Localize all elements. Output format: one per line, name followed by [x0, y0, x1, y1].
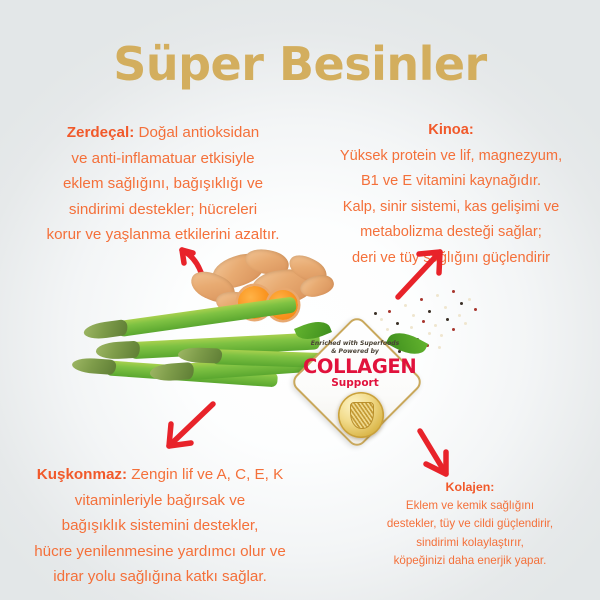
collagen-line-2: destekler, tüy ve cildi güçlendirir,: [360, 515, 580, 534]
text-block-collagen: Kolajen: Eklem ve kemik sağlığını destek…: [360, 478, 580, 571]
text-block-turmeric: Zerdeçal: Doğal antioksidan ve anti-infl…: [18, 120, 308, 248]
turmeric-line-4: sindirimi destekler; hücreleri: [18, 197, 308, 223]
shield-emblem-icon: [350, 402, 374, 429]
badge-tagline-line-2: & Powered by: [331, 348, 379, 355]
page-title: Süper Besinler: [0, 38, 600, 90]
badge-tagline-line-1: Enriched with Superfoods: [311, 340, 400, 347]
quinoa-line-3: Kalp, sinir sistemi, kas gelişimi ve: [312, 195, 590, 221]
turmeric-heading: Zerdeçal:: [67, 124, 135, 141]
badge-tagline: Enriched with Superfoods & Powered by: [303, 340, 407, 355]
asparagus-line-5: idrar yolu sağlığına katkı sağlar.: [12, 564, 308, 590]
badge-sub-label: Support: [303, 377, 407, 389]
turmeric-first-line: Zerdeçal: Doğal antioksidan: [18, 120, 308, 146]
asparagus-line-2: vitaminleriyle bağırsak ve: [12, 488, 308, 514]
badge-main-label: COLLAGEN: [303, 356, 407, 377]
text-block-asparagus: Kuşkonmaz: Zengin lif ve A, C, E, K vita…: [12, 462, 308, 590]
turmeric-line-1: Doğal antioksidan: [134, 124, 259, 141]
quinoa-line-2: B1 ve E vitamini kaynağıdır.: [312, 169, 590, 195]
produce-imagery: [0, 248, 600, 448]
gold-medallion-icon: [338, 392, 384, 438]
collagen-line-3: sindirimi kolaylaştırır,: [360, 534, 580, 553]
quinoa-line-1: Yüksek protein ve lif, magnezyum,: [312, 144, 590, 170]
collagen-line-4: köpeğinizi daha enerjik yapar.: [360, 552, 580, 571]
quinoa-line-4: metabolizma desteği sağlar;: [312, 220, 590, 246]
collagen-line-1: Eklem ve kemik sağlığını: [360, 497, 580, 516]
superfood-infographic-poster: Süper Besinler Zerdeçal: Doğal antioksid…: [0, 0, 600, 600]
asparagus-line-3: bağışıklık sistemini destekler,: [12, 513, 308, 539]
asparagus-heading: Kuşkonmaz:: [37, 466, 127, 483]
turmeric-line-2: ve anti-inflamatuar etkisiyle: [18, 146, 308, 172]
turmeric-line-3: eklem sağlığını, bağışıklığı ve: [18, 171, 308, 197]
collagen-heading: Kolajen:: [360, 478, 580, 497]
asparagus-first-line: Kuşkonmaz: Zengin lif ve A, C, E, K: [12, 462, 308, 488]
quinoa-heading: Kinoa:: [312, 118, 590, 144]
asparagus-line-4: hücre yenilenmesine yardımcı olur ve: [12, 539, 308, 565]
asparagus-line-1: Zengin lif ve A, C, E, K: [127, 466, 283, 483]
